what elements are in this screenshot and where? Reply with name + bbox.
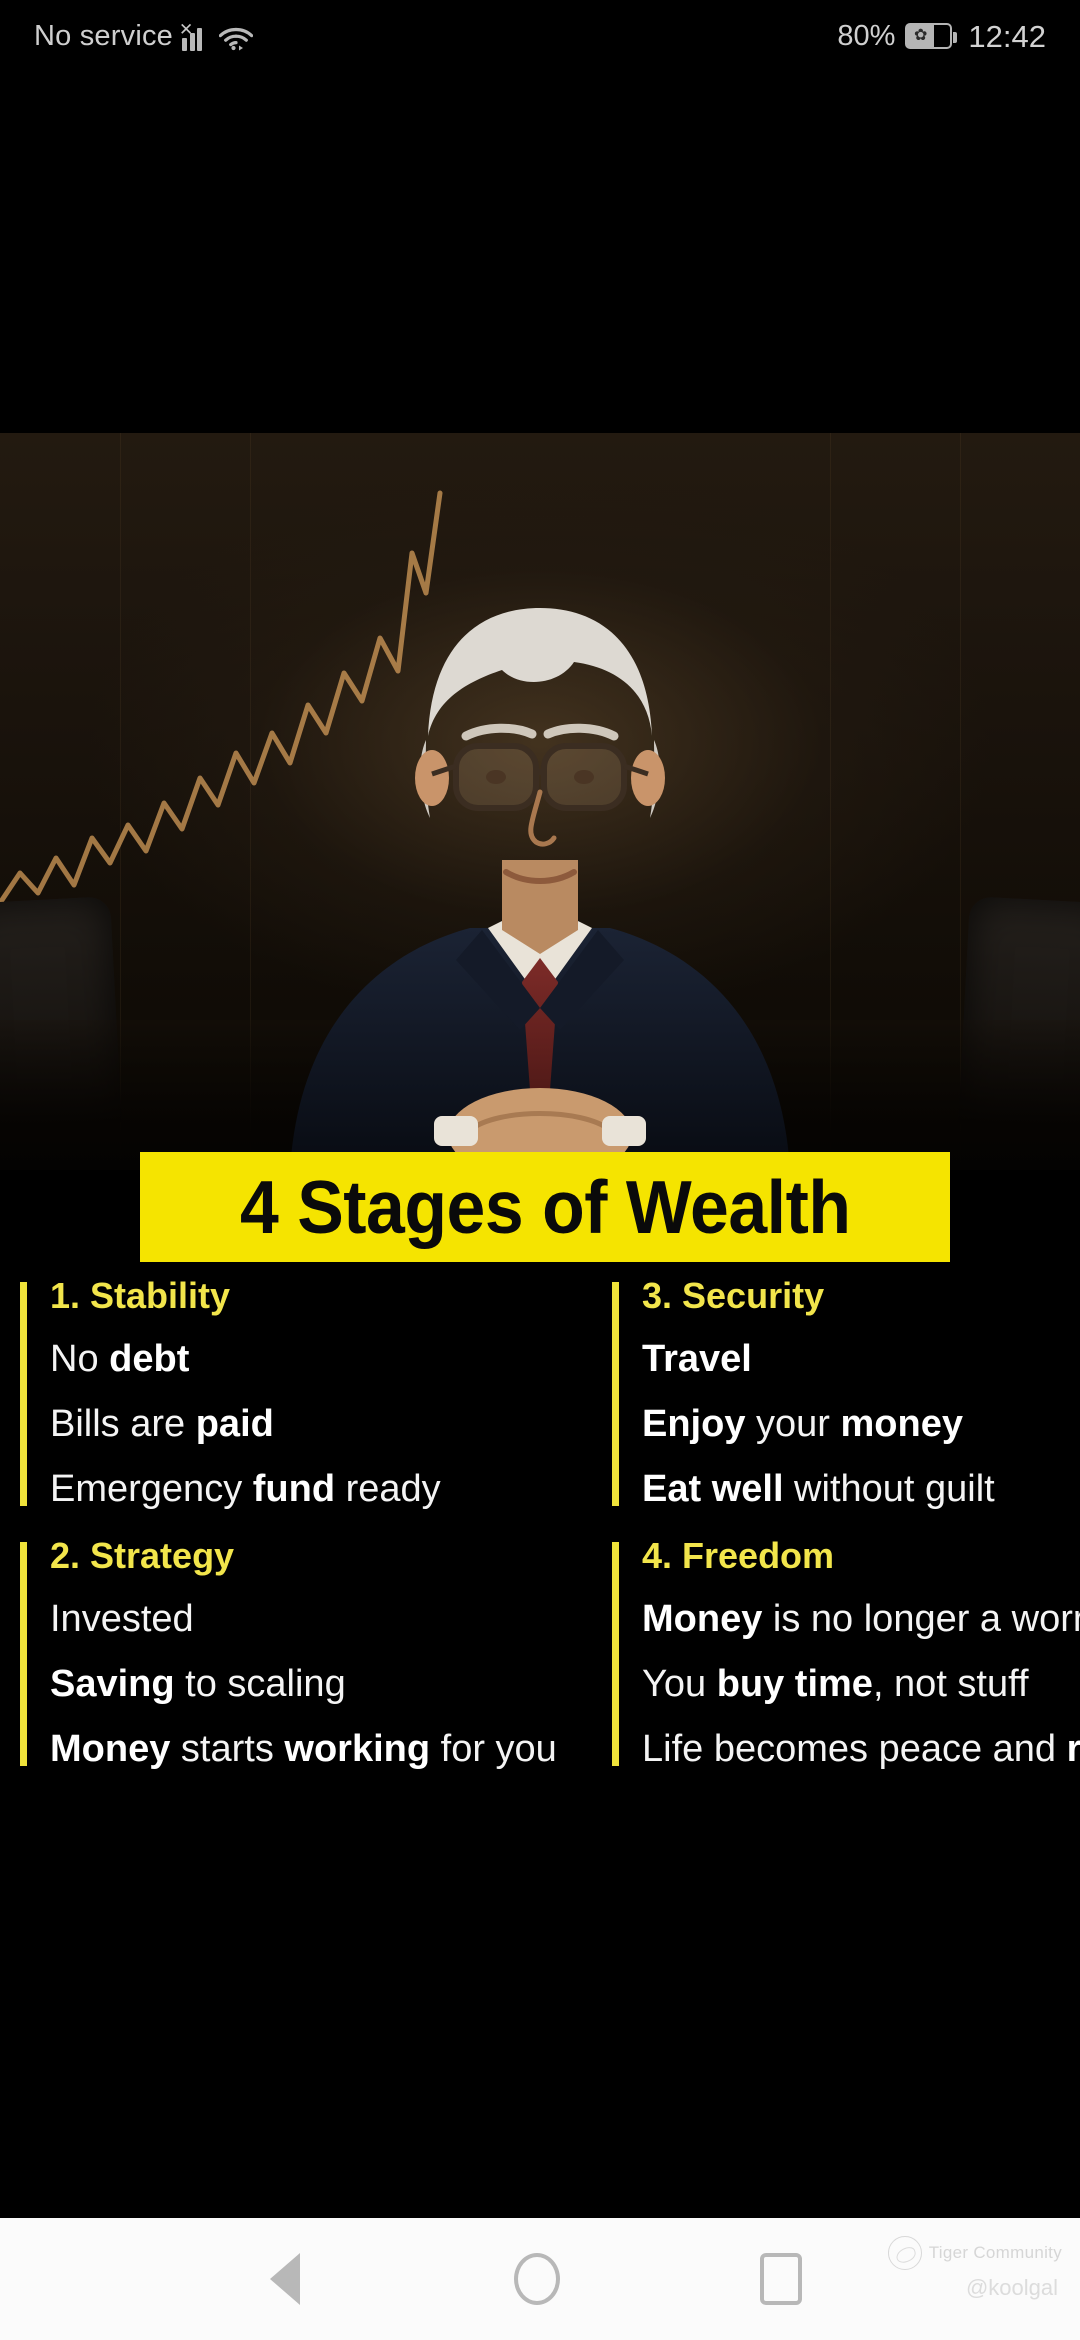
stage-heading: 3. Security [642, 1278, 1080, 1314]
stage-item: Enjoy your money [642, 1405, 1080, 1443]
battery-percent-label: 80% [837, 22, 895, 51]
status-bar-left: No service ✕ [34, 22, 253, 51]
watermark-name: Tiger Community [929, 2243, 1062, 2263]
signal-bars-no-service-icon: ✕ [182, 25, 210, 51]
home-button[interactable] [514, 2253, 560, 2305]
carrier-label: No service [34, 22, 173, 51]
battery-power-saving-icon: ✿ [905, 23, 952, 49]
portrait-figure [220, 530, 860, 1170]
stage-items: Money is no longer a worryYou buy time, … [642, 1600, 1080, 1768]
phone-screen: No service ✕ 80% ✿ [0, 0, 1080, 2340]
stage-item: Money is no longer a worry [642, 1600, 1080, 1638]
recents-button[interactable] [760, 2253, 802, 2305]
status-bar-right: 80% ✿ 12:42 [837, 21, 1046, 52]
watermark-brand: Tiger Community [888, 2236, 1062, 2270]
status-bar: No service ✕ 80% ✿ [0, 0, 1080, 72]
accent-bar [612, 1542, 619, 1766]
hero-photo [0, 433, 1080, 1170]
watermark: Tiger Community @koolgal [888, 2236, 1062, 2301]
recents-square-icon [760, 2253, 802, 2305]
stage-heading: 4. Freedom [642, 1538, 1080, 1574]
stage-group-3: 3. Security TravelEnjoy your moneyEat we… [612, 1278, 1080, 1508]
stage-item: Life becomes peace and rich [642, 1730, 1080, 1768]
stages-list: 1. Stability No debtBills are paidEmerge… [0, 1278, 1080, 1798]
watermark-handle: @koolgal [888, 2275, 1058, 2301]
clock-label: 12:42 [968, 21, 1046, 52]
stage-item: You buy time, not stuff [642, 1665, 1080, 1703]
accent-bar [612, 1282, 619, 1506]
stage-group-4: 4. Freedom Money is no longer a worryYou… [612, 1538, 1080, 1768]
stage-item: Travel [642, 1340, 1080, 1378]
back-button[interactable] [270, 2253, 300, 2305]
post-title: 4 Stages of Wealth [240, 1170, 851, 1245]
stage-items: TravelEnjoy your moneyEat well without g… [642, 1340, 1080, 1508]
stage-item: Eat well without guilt [642, 1470, 1080, 1508]
title-banner: 4 Stages of Wealth [140, 1152, 950, 1262]
home-circle-icon [514, 2253, 560, 2305]
post-graphic: 4 Stages of Wealth 1. Stability No debtB… [0, 433, 1080, 1808]
tiger-community-logo-icon [888, 2236, 922, 2270]
android-navigation-bar: Tiger Community @koolgal [0, 2218, 1080, 2340]
back-triangle-icon [270, 2253, 300, 2305]
wifi-icon [219, 24, 253, 51]
stages-column-right: 3. Security TravelEnjoy your moneyEat we… [0, 1278, 1080, 1798]
